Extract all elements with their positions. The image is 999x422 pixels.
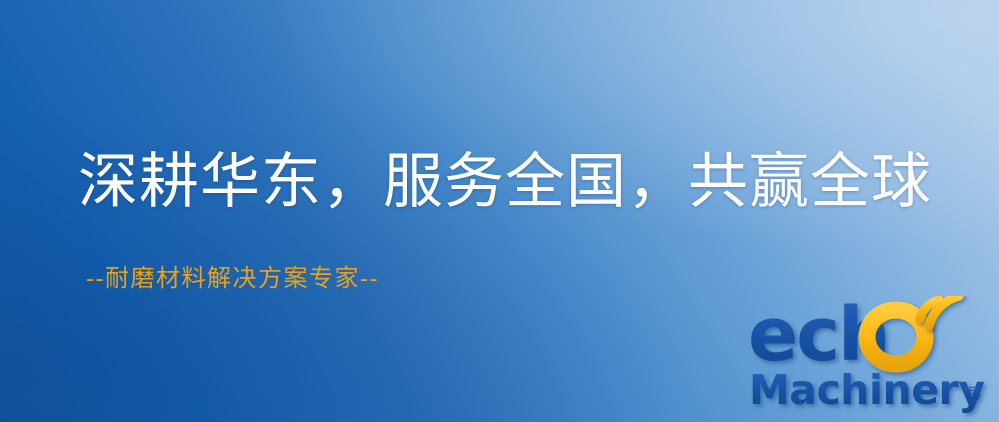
- banner-subtitle: --耐磨材料解决方案专家--: [86, 266, 379, 292]
- banner-headline: 深耕华东，服务全国，共赢全球: [78, 152, 932, 212]
- echo-machinery-logo[interactable]: ech Machinery ®: [748, 296, 996, 418]
- hero-banner: 深耕华东，服务全国，共赢全球 --耐磨材料解决方案专家--: [0, 0, 999, 422]
- logo-registered-mark: ®: [962, 383, 983, 407]
- signal-waves-icon: [920, 296, 959, 326]
- logo-artwork: ech Machinery ®: [748, 296, 996, 418]
- logo-tagline-group: Machinery ®: [749, 366, 984, 414]
- logo-tagline-machinery: Machinery: [749, 366, 984, 414]
